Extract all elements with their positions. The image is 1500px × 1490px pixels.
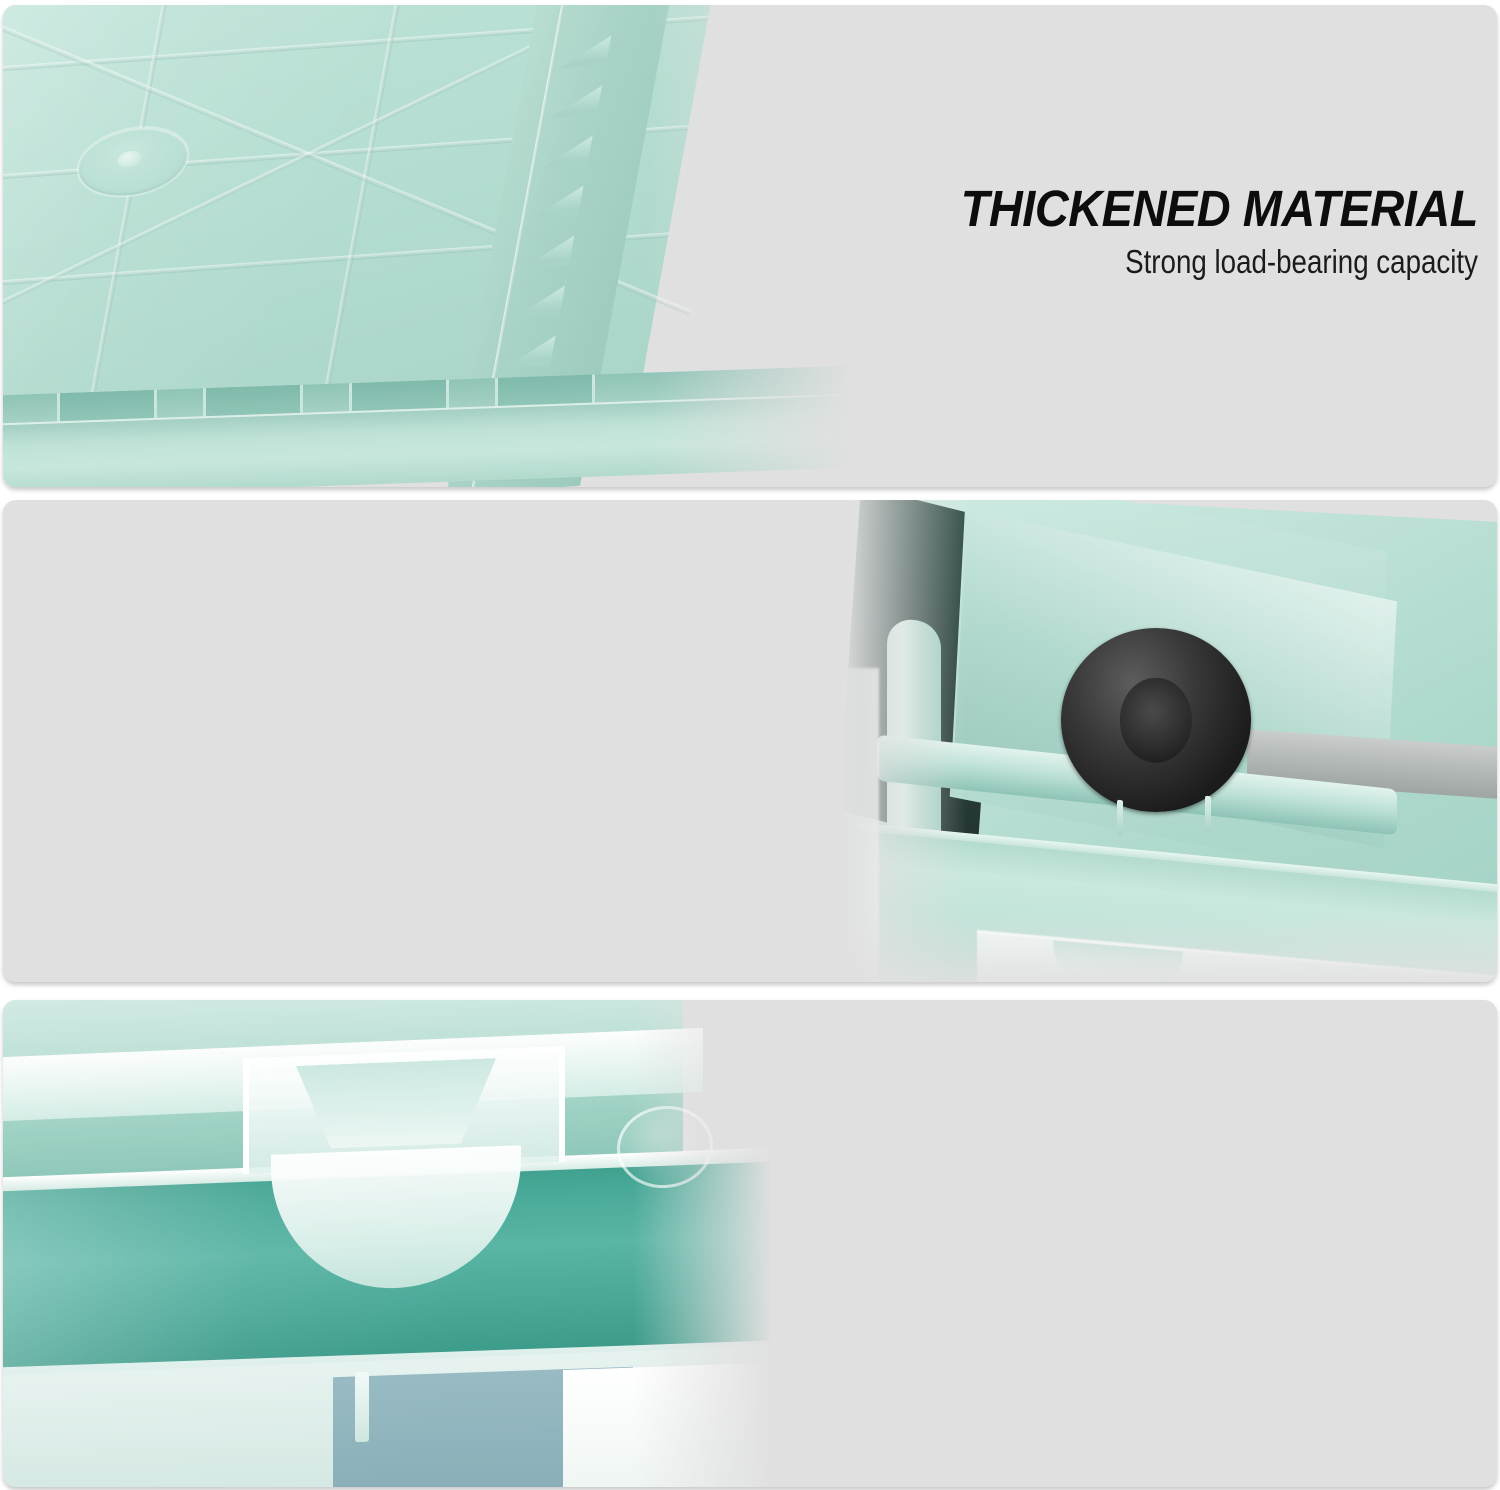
wheel-hubcap — [1120, 678, 1192, 763]
photo-edge-fade — [817, 500, 967, 982]
wheel-guard-tine — [1205, 796, 1211, 833]
panel-1-subline: Strong load-bearing capacity — [722, 244, 1478, 280]
lower-drawer-post — [355, 1372, 369, 1442]
caster-wheel-icon — [1061, 628, 1251, 812]
feature-panel-bottom-pulley: BOTTOM PULLEY DESIGN Easy to move — [3, 500, 1497, 982]
gusset-rib — [522, 235, 574, 268]
photo-bottom-fade — [817, 912, 1497, 982]
photo-edge-fade — [633, 1000, 803, 1487]
panel-1-text-block: THICKENED MATERIAL Strong load-bearing c… — [578, 183, 1478, 280]
infographic-sheet: THICKENED MATERIAL Strong load-bearing c… — [0, 0, 1500, 1490]
feature-panel-thickened-material: THICKENED MATERIAL Strong load-bearing c… — [3, 5, 1497, 487]
product-photo-caster-corner — [817, 500, 1497, 982]
wheel-guard-tine — [1117, 800, 1123, 837]
gusset-rib — [550, 85, 602, 118]
product-photo-groove-overlay — [3, 1000, 803, 1487]
gusset-rib — [559, 35, 611, 68]
gusset-rib — [504, 335, 556, 368]
gusset-rib — [513, 285, 565, 318]
feature-panel-groove-overlay: GROOVE OVERLAY DESIGN Laminate is not ea… — [3, 1000, 1497, 1487]
panel-1-headline: THICKENED MATERIAL — [650, 183, 1478, 235]
gusset-rib — [541, 135, 593, 168]
gusset-rib — [532, 185, 584, 218]
